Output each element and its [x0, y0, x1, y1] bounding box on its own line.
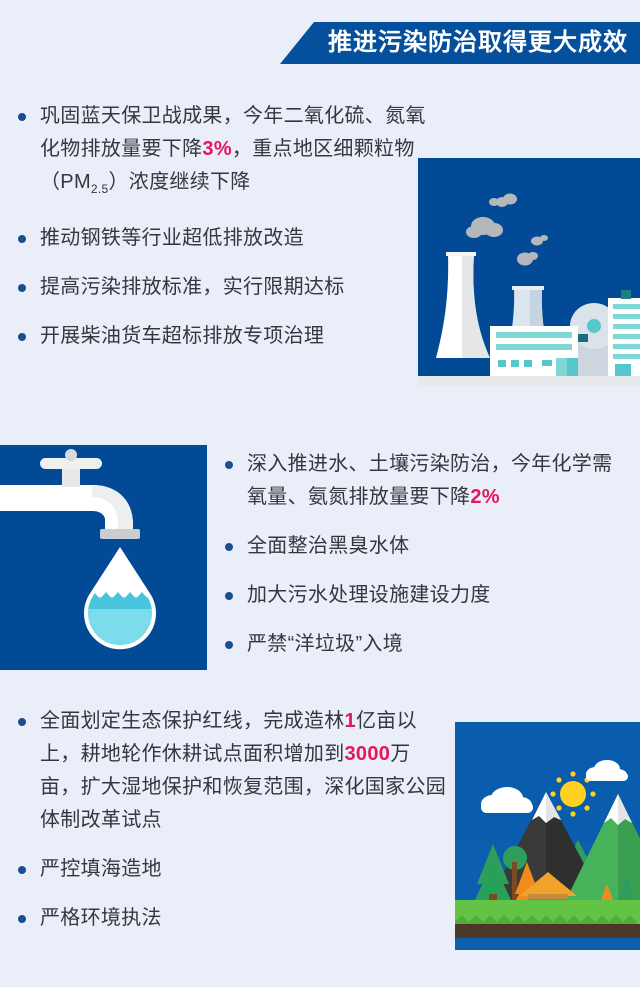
bullet-dot-icon — [18, 235, 26, 243]
bullet-item: 推动钢铁等行业超低排放改造 — [18, 222, 428, 255]
bullet-dot-icon — [18, 333, 26, 341]
bullet-text: 推动钢铁等行业超低排放改造 — [40, 227, 304, 249]
bullet-item: 严禁“洋垃圾”入境 — [225, 628, 625, 661]
bullet-list-eco: 全面划定生态保护红线，完成造林1亿亩以上，耕地轮作休耕试点面积增加到3000万亩… — [18, 705, 448, 935]
text-run: 严禁“洋垃圾”入境 — [247, 633, 403, 655]
text-run: ）浓度继续下降 — [109, 171, 251, 193]
text-run: 严格环境执法 — [40, 907, 162, 929]
faucet-water-drop-illustration — [0, 445, 207, 670]
bullet-dot-icon — [225, 592, 233, 600]
right-building-shape — [608, 290, 640, 386]
bullet-dot-icon — [18, 866, 26, 874]
bullet-text: 加大污水处理设施建设力度 — [247, 584, 491, 606]
bullet-item: 开展柴油货车超标排放专项治理 — [18, 320, 428, 353]
bullet-item: 全面整治黑臭水体 — [225, 530, 625, 563]
bullet-item: 严控填海造地 — [18, 853, 448, 886]
text-run: 严控填海造地 — [40, 858, 162, 880]
highlight-number: 1 — [345, 710, 356, 732]
bullet-text: 巩固蓝天保卫战成果，今年二氧化硫、氮氧化物排放量要下降3%，重点地区细颗粒物（P… — [40, 105, 426, 193]
text-run: 加大污水处理设施建设力度 — [247, 584, 491, 606]
bullet-text: 全面整治黑臭水体 — [247, 535, 409, 557]
text-run: 全面划定生态保护红线，完成造林 — [40, 710, 345, 732]
bullet-dot-icon — [18, 915, 26, 923]
bullet-item: 深入推进水、土壤污染防治，今年化学需氧量、氨氮排放量要下降2% — [225, 448, 625, 514]
bullet-dot-icon — [225, 641, 233, 649]
page-header: 推进污染防治取得更大成效 — [0, 0, 640, 72]
bullet-text: 提高污染排放标准，实行限期达标 — [40, 276, 345, 298]
bullet-item: 提高污染排放标准，实行限期达标 — [18, 271, 428, 304]
text-run: 全面整治黑臭水体 — [247, 535, 409, 557]
page-title: 推进污染防治取得更大成效 — [328, 31, 628, 55]
bullet-text: 深入推进水、土壤污染防治，今年化学需氧量、氨氮排放量要下降2% — [247, 453, 612, 508]
bullet-text: 开展柴油货车超标排放专项治理 — [40, 325, 324, 347]
header-banner: 推进污染防治取得更大成效 — [280, 22, 640, 64]
highlight-number: 3000 — [345, 743, 391, 765]
factory-smokestack-illustration — [418, 158, 640, 386]
section-air-pollution: 巩固蓝天保卫战成果，今年二氧化硫、氮氧化物排放量要下降3%，重点地区细颗粒物（P… — [18, 100, 428, 353]
mountain-cabin-nature-illustration — [455, 722, 640, 950]
text-run: 深入推进水、土壤污染防治，今年化学需氧量、氨氮排放量要下降 — [247, 453, 612, 508]
bullet-dot-icon — [225, 543, 233, 551]
text-run: 推动钢铁等行业超低排放改造 — [40, 227, 304, 249]
bullet-dot-icon — [225, 461, 233, 469]
bullet-text: 严禁“洋垃圾”入境 — [247, 633, 403, 655]
bullet-item: 全面划定生态保护红线，完成造林1亿亩以上，耕地轮作休耕试点面积增加到3000万亩… — [18, 705, 448, 837]
bullet-item: 严格环境执法 — [18, 902, 448, 935]
bullet-text: 严控填海造地 — [40, 858, 162, 880]
highlight-number: 2% — [470, 486, 500, 508]
section-ecological-protection: 全面划定生态保护红线，完成造林1亿亩以上，耕地轮作休耕试点面积增加到3000万亩… — [18, 705, 448, 935]
text-run: 提高污染排放标准，实行限期达标 — [40, 276, 345, 298]
bullet-list-air: 巩固蓝天保卫战成果，今年二氧化硫、氮氧化物排放量要下降3%，重点地区细颗粒物（P… — [18, 100, 428, 353]
bullet-item: 巩固蓝天保卫战成果，今年二氧化硫、氮氧化物排放量要下降3%，重点地区细颗粒物（P… — [18, 100, 428, 206]
faucet-svg — [0, 445, 207, 670]
bullet-dot-icon — [18, 284, 26, 292]
nature-svg — [455, 722, 640, 950]
bullet-text: 全面划定生态保护红线，完成造林1亿亩以上，耕地轮作休耕试点面积增加到3000万亩… — [40, 710, 446, 831]
bullet-dot-icon — [18, 718, 26, 726]
bullet-list-water: 深入推进水、土壤污染防治，今年化学需氧量、氨氮排放量要下降2%全面整治黑臭水体加… — [225, 448, 625, 661]
subscript-text: 2.5 — [91, 182, 109, 196]
bullet-item: 加大污水处理设施建设力度 — [225, 579, 625, 612]
bullet-dot-icon — [18, 113, 26, 121]
highlight-number: 3% — [202, 138, 232, 160]
text-run: 开展柴油货车超标排放专项治理 — [40, 325, 324, 347]
bullet-text: 严格环境执法 — [40, 907, 162, 929]
section-water-soil-pollution: 深入推进水、土壤污染防治，今年化学需氧量、氨氮排放量要下降2%全面整治黑臭水体加… — [225, 448, 625, 661]
factory-svg — [418, 158, 640, 386]
